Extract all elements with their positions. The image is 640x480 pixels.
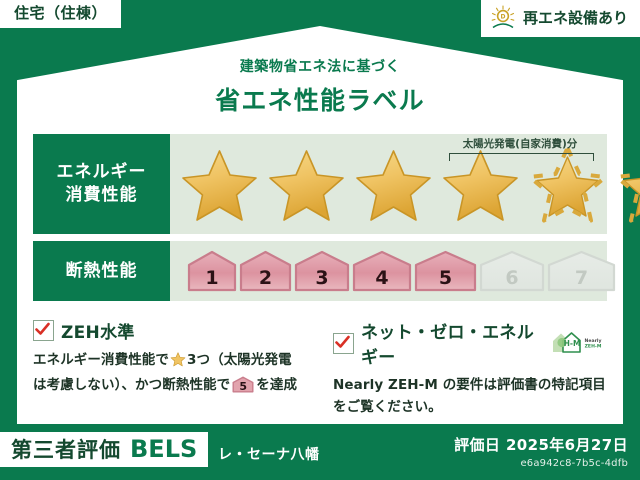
nearly-zeh-m-logo-icon: H-M Nearly ZEH-M [549,330,607,356]
insulation-chip-7: 7 [547,250,616,292]
insulation-grade-chips: 1 2 3 [170,250,616,292]
insulation-label: 断熱性能 [66,260,138,283]
bels-badge: 第三者評価 BELS [0,432,208,467]
evaluation-id: e6a942c8-7b5c-4dfb [454,458,628,469]
insulation-chip-4: 4 [352,250,412,292]
evaluation-date: 評価日 2025年6月27日 [454,434,628,455]
building-name: レ・セーナ八幡 [218,444,320,464]
inline-chip-value: 5 [232,381,254,392]
svg-text:D: D [500,14,505,21]
solar-portion-note: 太陽光発電(自家消費)分 [440,136,600,151]
insulation-chip-7-label: 7 [547,269,616,288]
insulation-performance-row-label: 断熱性能 [33,241,170,301]
energy-performance-row-label: エネルギー 消費性能 [33,134,170,234]
svg-text:Nearly: Nearly [585,338,602,344]
inline-star-icon [170,351,186,375]
insulation-chip-4-label: 4 [352,269,412,288]
star-filled-2 [265,145,348,223]
evaluation-date-label: 評価日 [454,436,500,454]
solar-portion-bracket [449,153,594,161]
energy-label-line2: 消費性能 [66,184,138,207]
net-zero-energy-text: Nearly ZEH-M の要件は評価書の特記項目をご覧ください。 [333,375,607,419]
sun-solar-icon: D [489,5,517,31]
energy-performance-row-body: 太陽光発電(自家消費)分 [170,134,640,234]
bels-badge-jp-label: 第三者評価 [11,440,121,461]
insulation-chip-3-label: 3 [294,269,350,288]
insulation-chip-2: 2 [239,250,292,292]
star-filled-1 [178,145,261,223]
net-zero-energy-title: ネット・ゼロ・エネルギー [361,318,542,368]
insulation-chip-1-label: 1 [187,269,237,288]
label-title-block: 建築物省エネ法に基づく 省エネ性能ラベル [0,56,640,117]
net-zero-energy-note: ネット・ゼロ・エネルギー H-M Nearly ZEH-M Nearly ZEH… [320,318,607,419]
insulation-chip-6-label: 6 [479,269,545,288]
insulation-performance-row-body: 1 2 3 [170,241,616,301]
energy-performance-label-card: 住宅（住棟） D 再エネ設備あり 建築物省エネ法に基づ [0,0,640,480]
zeh-text-part4: を達成 [256,377,297,393]
insulation-chip-3: 3 [294,250,350,292]
star-solar-6 [613,145,640,223]
bels-badge-en-label: BELS [130,437,197,461]
renewable-equipment-tag: D 再エネ設備あり [481,0,640,37]
notes-section: ZEH水準 エネルギー消費性能で 3つ（太陽光発電 は考慮しない）、かつ断熱性能… [33,318,607,419]
zeh-level-note-header: ZEH水準 [33,318,308,343]
zeh-text-part1: エネルギー消費性能で [33,352,169,368]
zeh-level-title: ZEH水準 [61,318,135,343]
building-type-tag: 住宅（住棟） [0,0,121,28]
zeh-text-part3: は考慮しない）、かつ断熱性能で [33,377,230,393]
bottom-bar: 第三者評価 BELS レ・セーナ八幡 評価日 2025年6月27日 e6a942… [0,424,640,480]
svg-text:ZEH-M: ZEH-M [585,344,602,350]
svg-text:H-M: H-M [564,339,581,348]
evaluation-info: 評価日 2025年6月27日 e6a942c8-7b5c-4dfb [454,434,628,469]
evaluation-date-value: 2025年6月27日 [506,436,628,454]
metric-rows: エネルギー 消費性能 太陽光発電(自家消費)分 [33,134,607,308]
net-zero-energy-note-header: ネット・ゼロ・エネルギー H-M Nearly ZEH-M [333,318,607,368]
label-title-sub: 建築物省エネ法に基づく [0,56,640,76]
star-filled-3 [352,145,435,223]
checkmark-icon [33,320,54,341]
checkmark-icon [333,333,354,354]
zeh-level-text: エネルギー消費性能で 3つ（太陽光発電 は考慮しない）、かつ断熱性能で 5を達成 [33,350,308,397]
energy-performance-row: エネルギー 消費性能 太陽光発電(自家消費)分 [33,134,607,234]
zeh-text-part2: 3つ（太陽光発電 [187,352,292,368]
insulation-chip-5: 5 [414,250,477,292]
inline-insulation-chip: 5 [232,376,254,393]
insulation-chip-2-label: 2 [239,269,292,288]
zeh-level-note: ZEH水準 エネルギー消費性能で 3つ（太陽光発電 は考慮しない）、かつ断熱性能… [33,318,320,419]
page-title: 省エネ性能ラベル [0,81,640,117]
insulation-chip-6: 6 [479,250,545,292]
insulation-chip-1: 1 [187,250,237,292]
renewable-tag-label: 再エネ設備あり [523,11,628,26]
insulation-chip-5-label: 5 [414,269,477,288]
insulation-performance-row: 断熱性能 [33,241,607,301]
energy-label-line1: エネルギー [57,161,147,184]
building-type-tag-label: 住宅（住棟） [14,4,107,22]
